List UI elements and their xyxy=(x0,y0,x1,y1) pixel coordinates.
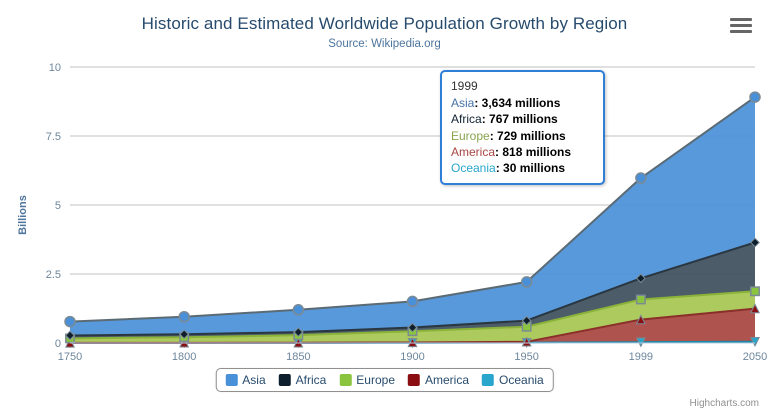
tooltip-row-africa: Africa: 767 millions xyxy=(451,111,594,127)
marker-europe-1999[interactable] xyxy=(637,295,645,303)
y-tick-0: 0 xyxy=(55,338,61,350)
chart-tooltip: 1999 Asia: 3,634 millionsAfrica: 767 mil… xyxy=(440,70,605,185)
tooltip-header: 1999 xyxy=(451,78,594,95)
plot-area: 02.557.510 1750180018501900195019992050 … xyxy=(0,0,769,416)
marker-asia-2050[interactable] xyxy=(750,92,760,102)
legend-item-asia[interactable]: Asia xyxy=(225,373,265,387)
x-axis-tick-labels: 1750180018501900195019992050 xyxy=(58,351,767,363)
legend-label-europe: Europe xyxy=(356,373,395,387)
tooltip-series-name-africa: Africa xyxy=(451,112,482,126)
x-tick-1750: 1750 xyxy=(58,351,82,363)
y-tick-7.5: 7.5 xyxy=(46,131,61,143)
legend-label-america: America xyxy=(425,373,469,387)
tooltip-rows: Asia: 3,634 millionsAfrica: 767 millions… xyxy=(451,95,594,176)
marker-europe-2050[interactable] xyxy=(751,287,759,295)
tooltip-series-value-asia: : 3,634 millions xyxy=(474,96,560,110)
legend-item-america[interactable]: America xyxy=(408,373,469,387)
legend-label-africa: Africa xyxy=(296,373,327,387)
y-tick-5: 5 xyxy=(55,200,61,212)
y-tick-2.5: 2.5 xyxy=(46,269,61,281)
tooltip-row-europe: Europe: 729 millions xyxy=(451,128,594,144)
marker-asia-1800[interactable] xyxy=(179,312,189,322)
tooltip-series-value-europe: : 729 millions xyxy=(490,129,566,143)
x-tick-2050: 2050 xyxy=(743,351,767,363)
marker-asia-1850[interactable] xyxy=(293,305,303,315)
tooltip-row-asia: Asia: 3,634 millions xyxy=(451,95,594,111)
tooltip-row-america: America: 818 millions xyxy=(451,144,594,160)
legend-swatch-africa xyxy=(279,374,291,386)
legend-label-oceania: Oceania xyxy=(499,373,544,387)
marker-asia-1999[interactable] xyxy=(636,173,646,183)
legend-label-asia: Asia xyxy=(242,373,265,387)
legend-swatch-america xyxy=(408,374,420,386)
x-tick-1900: 1900 xyxy=(400,351,424,363)
highcharts-container: Historic and Estimated Worldwide Populat… xyxy=(0,0,769,416)
legend-swatch-asia xyxy=(225,374,237,386)
tooltip-series-name-america: America xyxy=(451,145,495,159)
legend-swatch-oceania xyxy=(482,374,494,386)
tooltip-series-value-africa: : 767 millions xyxy=(482,112,558,126)
legend-swatch-europe xyxy=(339,374,351,386)
tooltip-series-value-oceania: : 30 millions xyxy=(496,161,565,175)
x-tick-1800: 1800 xyxy=(172,351,196,363)
credits-label: Highcharts.com xyxy=(690,398,759,409)
tooltip-series-name-oceania: Oceania xyxy=(451,161,496,175)
y-axis-tick-labels: 02.557.510 xyxy=(46,62,61,350)
x-tick-1850: 1850 xyxy=(286,351,310,363)
tooltip-series-name-europe: Europe xyxy=(451,129,490,143)
tooltip-series-name-asia: Asia xyxy=(451,96,474,110)
marker-asia-1900[interactable] xyxy=(408,296,418,306)
tooltip-series-value-america: : 818 millions xyxy=(495,145,571,159)
legend-item-oceania[interactable]: Oceania xyxy=(482,373,544,387)
y-tick-10: 10 xyxy=(49,62,61,74)
marker-asia-1950[interactable] xyxy=(522,277,532,287)
y-axis-title: Billions xyxy=(17,195,29,235)
x-tick-1999: 1999 xyxy=(629,351,653,363)
x-tick-1950: 1950 xyxy=(514,351,538,363)
marker-asia-1750[interactable] xyxy=(65,317,75,327)
legend-item-europe[interactable]: Europe xyxy=(339,373,395,387)
legend-item-africa[interactable]: Africa xyxy=(279,373,327,387)
tooltip-row-oceania: Oceania: 30 millions xyxy=(451,160,594,176)
chart-legend[interactable]: Asia Africa Europe America Oceania xyxy=(215,368,553,392)
